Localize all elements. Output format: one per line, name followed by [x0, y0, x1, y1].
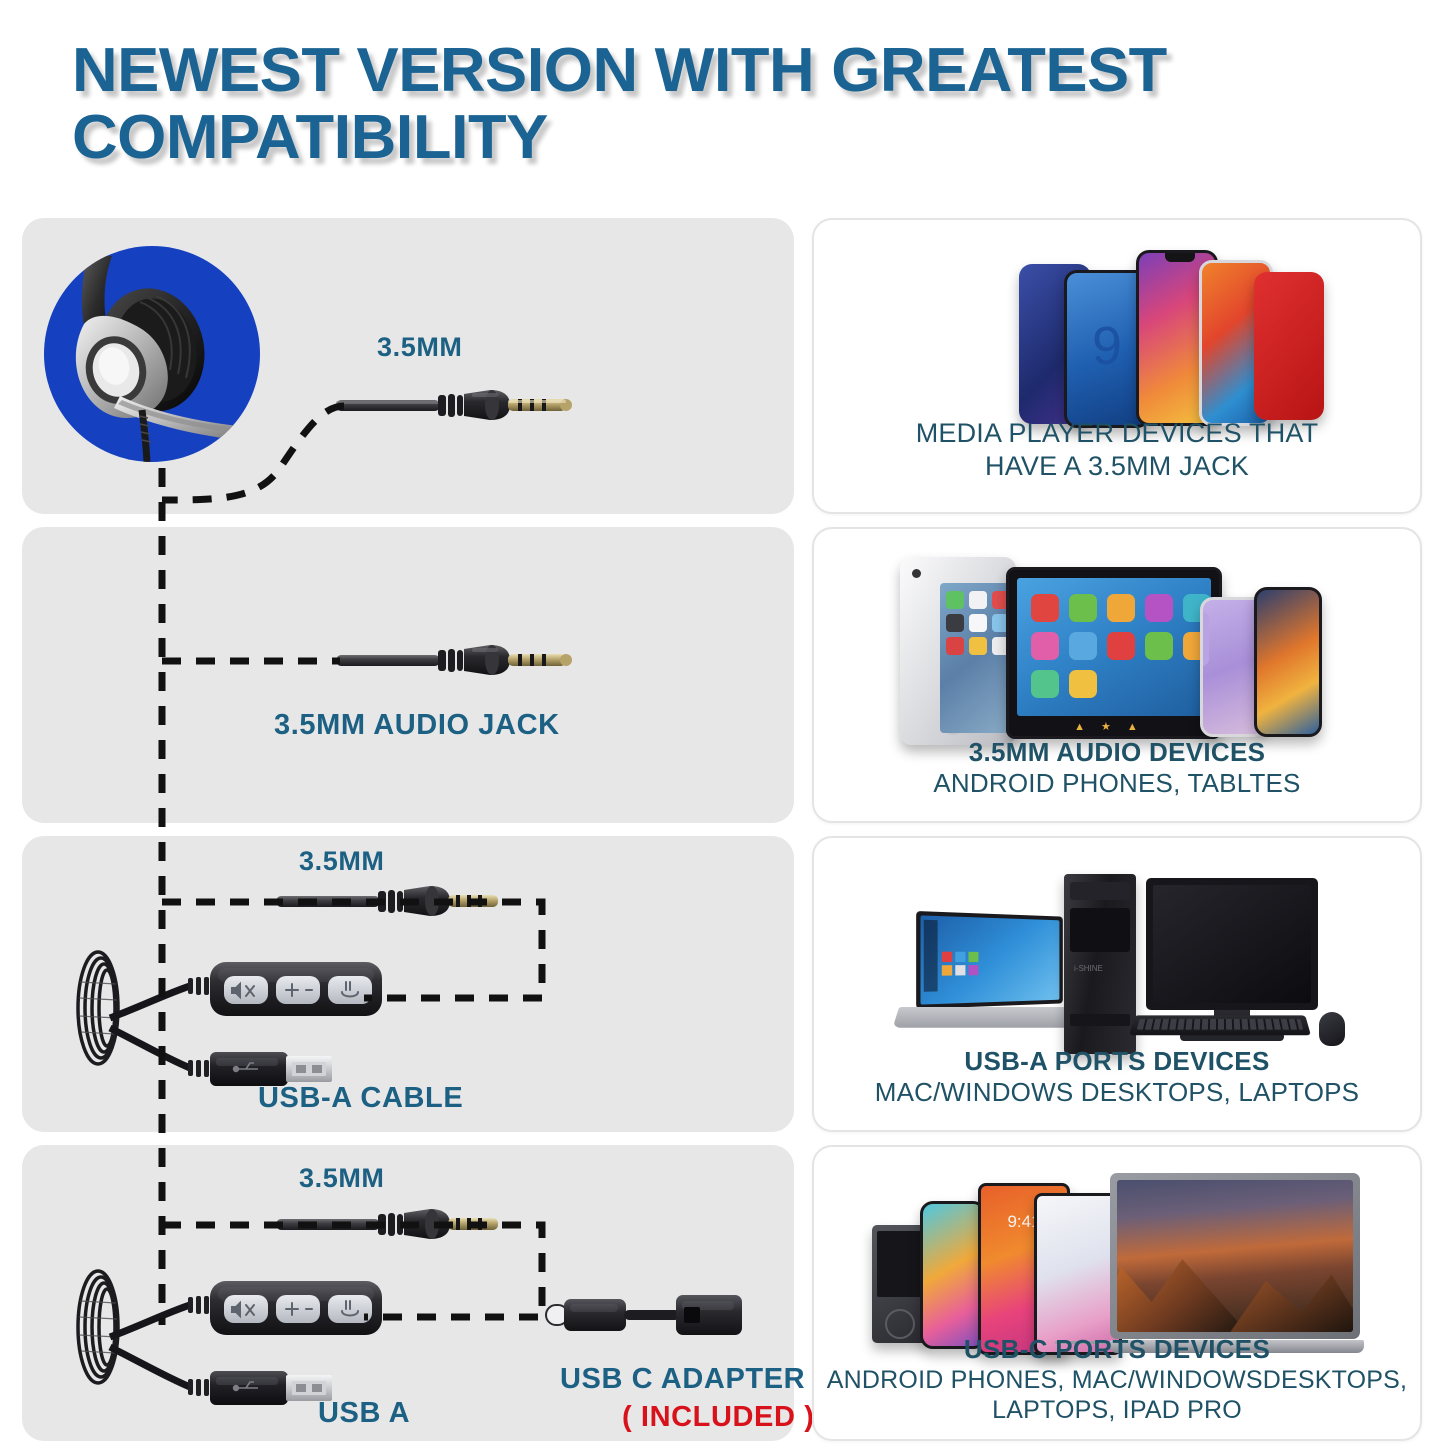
row-2-device-cluster: ▲★▲ — [814, 543, 1420, 743]
headset-in-blue-circle — [44, 246, 260, 462]
usb-c-adapter — [542, 1283, 752, 1349]
row-2-diagram-panel: 3.5MM AUDIO JACK — [22, 527, 794, 823]
device-keyboard — [1129, 1015, 1311, 1035]
row-3-diagram-panel: 3.5MM — [22, 836, 794, 1132]
audio-jack-3-5mm — [262, 876, 522, 928]
row-3-device-card: i-SHINE USB-A PORTS DEVICES MAC/WINDOWS … — [812, 836, 1422, 1132]
compatibility-row-4: 3.5MM — [22, 1145, 1422, 1441]
audio-jack-3-5mm — [322, 635, 582, 687]
device-windows-laptop — [896, 914, 1076, 1036]
row-1-caption-line-1: MEDIA PLAYER DEVICES THAT — [824, 417, 1410, 449]
row-2-caption-line-1: ANDROID PHONES, TABLTES — [824, 768, 1410, 799]
row-1-caption: MEDIA PLAYER DEVICES THAT HAVE A 3.5MM J… — [824, 417, 1410, 482]
row-1-device-card: 9 MEDIA PLAYER DEVICES THAT HAVE A 3.5MM… — [812, 218, 1422, 514]
headset-icon — [44, 246, 260, 462]
row-3-usb-a-cable-label: USB-A CABLE — [258, 1082, 463, 1115]
row-3-caption-bold: USB-A PORTS DEVICES — [824, 1046, 1410, 1077]
device-red-phone-back — [1254, 272, 1324, 420]
row-4-device-cluster: 9:41 — [814, 1161, 1420, 1361]
row-2-device-card: ▲★▲ 3.5MM AUDIO DEVICES ANDROID PHONES, … — [812, 527, 1422, 823]
device-orange-screen-phone — [1254, 587, 1322, 737]
row-4-usb-c-adapter-label: USB C ADAPTER — [560, 1363, 805, 1396]
device-android-phone — [920, 1201, 986, 1349]
device-mouse — [1319, 1012, 1345, 1046]
row-4-device-card: 9:41 USB-C PORTS DEVI — [812, 1145, 1422, 1441]
row-4-diagram-panel: 3.5MM — [22, 1145, 794, 1441]
row-1-diagram-panel: 3.5MM — [22, 218, 794, 514]
audio-jack-3-5mm — [262, 1199, 522, 1251]
audio-jack-3-5mm — [322, 380, 582, 432]
row-3-device-cluster: i-SHINE — [814, 852, 1420, 1052]
row-3-caption: USB-A PORTS DEVICES MAC/WINDOWS DESKTOPS… — [824, 1046, 1410, 1108]
row-4-caption-line-2: LAPTOPS, IPAD PRO — [824, 1395, 1410, 1425]
compatibility-row-2: 3.5MM AUDIO JACK — [22, 527, 1422, 823]
row-1-device-cluster: 9 — [814, 234, 1420, 434]
row-1-jack-3-5mm-label: 3.5MM — [377, 332, 463, 363]
title-line-1: NEWEST VERSION WITH GREATEST — [72, 38, 1429, 105]
row-3-jack-3-5mm-label: 3.5MM — [299, 846, 385, 877]
device-android-tablet: ▲★▲ — [1006, 567, 1222, 739]
usb-a-cable-assembly — [50, 1251, 500, 1421]
row-4-caption-bold: USB-C PORTS DEVICES — [824, 1334, 1410, 1365]
device-desktop-tower: i-SHINE — [1064, 874, 1136, 1054]
device-ipad-pro-white — [1034, 1193, 1122, 1355]
compatibility-row-1: 3.5MM — [22, 218, 1422, 514]
title-line-2: COMPATIBILITY — [72, 105, 1429, 172]
row-4-usb-a-label: USB A — [318, 1397, 410, 1430]
page-title: NEWEST VERSION WITH GREATEST COMPATIBILI… — [72, 38, 1402, 188]
row-4-included-label: ( INCLUDED ) — [622, 1401, 814, 1434]
row-4-jack-3-5mm-label: 3.5MM — [299, 1163, 385, 1194]
dashed-branch-connector — [22, 527, 794, 823]
row-4-caption-line-1: ANDROID PHONES, MAC/WINDOWSDESKTOPS, — [824, 1365, 1410, 1395]
row-3-caption-line-1: MAC/WINDOWS DESKTOPS, LAPTOPS — [824, 1077, 1410, 1108]
usb-a-cable-assembly — [50, 932, 500, 1102]
row-2-caption-bold: 3.5MM AUDIO DEVICES — [824, 737, 1410, 768]
row-2-caption: 3.5MM AUDIO DEVICES ANDROID PHONES, TABL… — [824, 737, 1410, 799]
compatibility-row-3: 3.5MM — [22, 836, 1422, 1132]
row-2-audio-jack-label: 3.5MM AUDIO JACK — [274, 709, 560, 742]
row-1-caption-line-2: HAVE A 3.5MM JACK — [824, 450, 1410, 482]
row-4-caption: USB-C PORTS DEVICES ANDROID PHONES, MAC/… — [824, 1334, 1410, 1425]
